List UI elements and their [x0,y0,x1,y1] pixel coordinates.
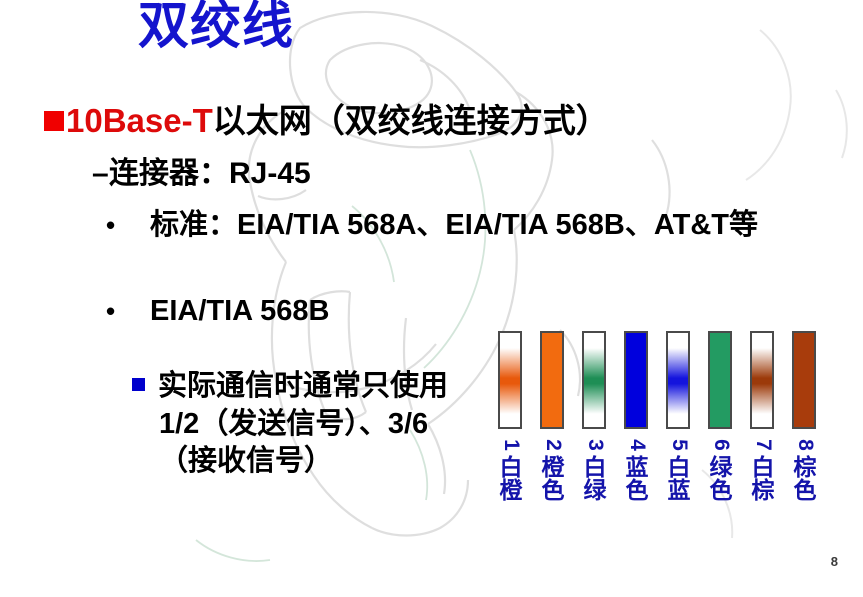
wire-bar-3 [582,331,606,429]
wire-label-char: 白 [582,456,608,479]
wire-pin-3: 3白绿 [582,331,608,502]
bullet-level3-standards-text: 标准：EIA/TIA 568A、EIA/TIA 568B、AT&T等 [150,209,758,241]
slide-content: 双绞线 10Base-T以太网（双绞线连接方式） –连接器：RJ-45 •标准：… [0,0,863,597]
wire-pinout-diagram: 1白橙2橙色3白绿4蓝色5白蓝6绿色7白棕8棕色 [498,331,838,531]
bullet-level2: –连接器：RJ-45 [92,156,311,192]
wire-bar-7 [750,331,774,429]
wire-bar-4 [624,331,648,429]
wire-bar-5 [666,331,690,429]
wire-label-char: 绿 [582,479,608,502]
wire-label-3: 3白绿 [582,434,608,502]
wire-label-char: 棕 [750,479,776,502]
bullet-level1-highlight: 10Base-T [66,102,213,139]
wire-label-char: 色 [624,479,650,502]
wire-label-6: 6绿色 [708,434,734,502]
wire-label-char: 蓝 [624,456,650,479]
bullet-level4-text: 实际通信时通常只使用1/2（发送信号）、3/6（接收信号） [158,370,448,477]
wire-label-char: 绿 [708,456,734,479]
wire-label-4: 4蓝色 [624,434,650,502]
bullet-level1: 10Base-T以太网（双绞线连接方式） [44,101,609,141]
wire-label-char: 色 [708,479,734,502]
wire-label-char: 白 [498,456,524,479]
blue-square-bullet-icon [132,378,145,391]
wire-pin-number-6: 6 [710,432,732,458]
wire-pin-number-4: 4 [626,432,648,458]
bullet-level3-568b-text: EIA/TIA 568B [150,295,329,327]
wire-pin-number-2: 2 [542,432,564,458]
page-title: 双绞线 [138,0,294,56]
wire-pin-1: 1白橙 [498,331,524,502]
wire-bar-6 [708,331,732,429]
wire-bar-8 [792,331,816,429]
bullet-level4: 实际通信时通常只使用1/2（发送信号）、3/6（接收信号） [132,368,469,481]
wire-pin-number-8: 8 [794,432,816,458]
red-square-bullet-icon [44,111,64,131]
dash-bullet-icon: – [92,156,109,192]
wire-label-char: 棕 [792,456,818,479]
wire-label-2: 2橙色 [540,434,566,502]
wire-label-5: 5白蓝 [666,434,692,502]
wire-pin-number-5: 5 [668,432,690,458]
wire-pin-8: 8棕色 [792,331,818,502]
bullet-level2-text: 连接器：RJ-45 [109,157,311,190]
wire-pin-2: 2橙色 [540,331,566,502]
wire-label-char: 色 [540,479,566,502]
wire-label-char: 白 [666,456,692,479]
bullet-level3-standards: •标准：EIA/TIA 568A、EIA/TIA 568B、AT&T等 [128,207,848,244]
wire-label-8: 8棕色 [792,434,818,502]
wire-label-char: 蓝 [666,479,692,502]
wire-label-7: 7白棕 [750,434,776,502]
wire-pin-5: 5白蓝 [666,331,692,502]
wire-pin-number-7: 7 [752,432,774,458]
wire-label-char: 白 [750,456,776,479]
wire-label-char: 橙 [498,479,524,502]
round-bullet-icon: • [128,295,150,328]
wire-pin-4: 4蓝色 [624,331,650,502]
wire-pin-7: 7白棕 [750,331,776,502]
wire-pin-number-3: 3 [584,432,606,458]
wire-label-char: 橙 [540,456,566,479]
wire-bar-1 [498,331,522,429]
wire-bar-2 [540,331,564,429]
round-bullet-icon: • [128,209,150,242]
page-number: 8 [831,554,838,569]
wire-label-1: 1白橙 [498,434,524,502]
wire-label-char: 色 [792,479,818,502]
wire-pin-number-1: 1 [500,432,522,458]
bullet-level3-568b: •EIA/TIA 568B [128,293,548,330]
wire-pin-6: 6绿色 [708,331,734,502]
bullet-level1-text: 以太网（双绞线连接方式） [213,102,609,139]
